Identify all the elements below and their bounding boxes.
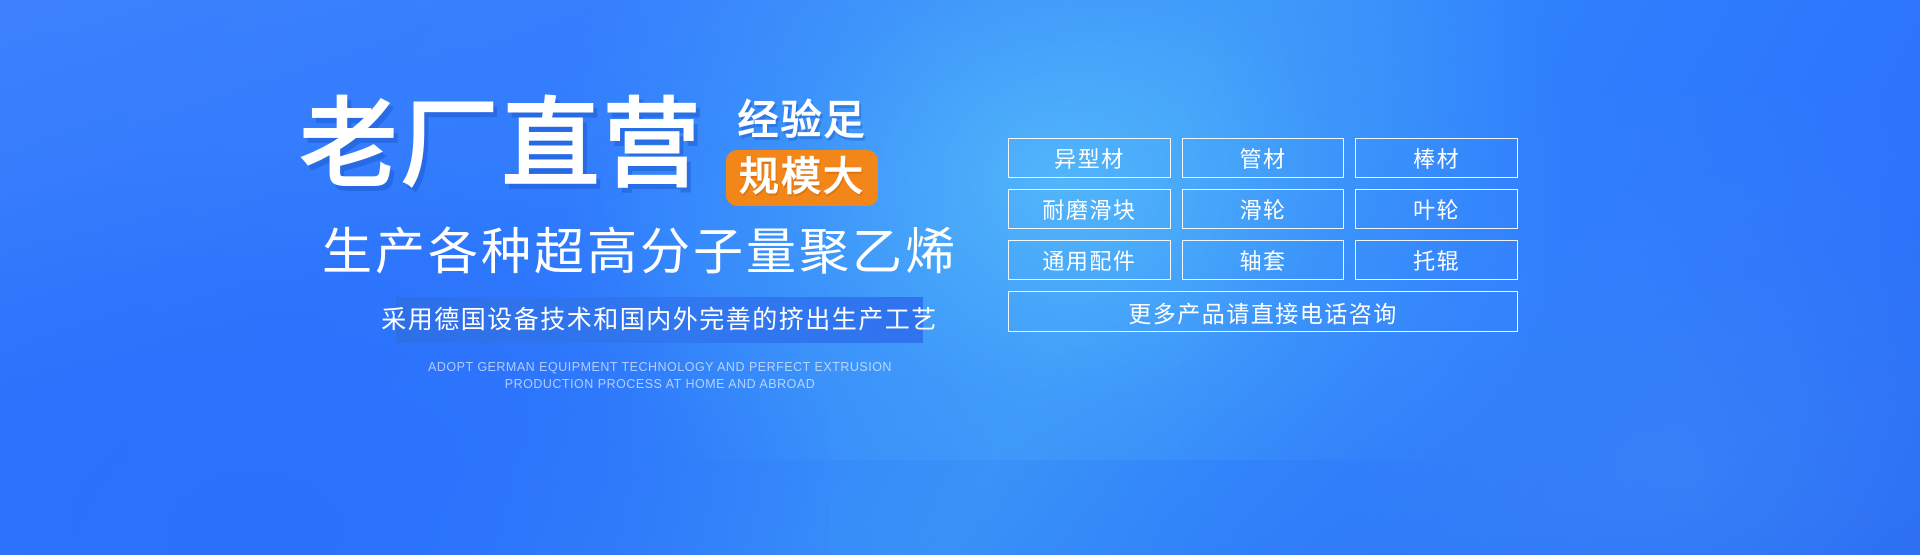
- product-category-panel: 异型材 管材 棒材 耐磨滑块 滑轮 叶轮 通用配件 轴套 托辊 更多产品请直接电…: [1008, 138, 1518, 332]
- subheadline: 生产各种超高分子量聚乙烯: [322, 221, 1000, 283]
- contact-cta-button[interactable]: 更多产品请直接电话咨询: [1008, 291, 1518, 332]
- headline-row: 老厂直营 经验足 规模大: [300, 90, 1000, 205]
- product-row-2: 耐磨滑块 滑轮 叶轮: [1008, 189, 1518, 229]
- promo-banner: 老厂直营 经验足 规模大 生产各种超高分子量聚乙烯 采用德国设备技术和国内外完善…: [0, 0, 1920, 555]
- headline-block: 老厂直营 经验足 规模大 生产各种超高分子量聚乙烯 采用德国设备技术和国内外完善…: [300, 90, 1000, 393]
- headline-main: 老厂直营: [300, 90, 704, 200]
- product-button-yelun[interactable]: 叶轮: [1355, 189, 1518, 229]
- product-button-tuogun[interactable]: 托辊: [1355, 240, 1518, 280]
- product-row-3: 通用配件 轴套 托辊: [1008, 240, 1518, 280]
- product-row-1: 异型材 管材 棒材: [1008, 138, 1518, 178]
- tagline-text: 采用德国设备技术和国内外完善的挤出生产工艺: [381, 305, 938, 335]
- product-button-hualun[interactable]: 滑轮: [1182, 189, 1345, 229]
- english-subtitle-line-1: ADOPT GERMAN EQUIPMENT TECHNOLOGY AND PE…: [340, 359, 980, 376]
- badge-scale: 规模大: [726, 150, 878, 206]
- product-button-guancai[interactable]: 管材: [1182, 138, 1345, 178]
- english-subtitle: ADOPT GERMAN EQUIPMENT TECHNOLOGY AND PE…: [340, 359, 980, 393]
- headline-badge-group: 经验足 规模大: [726, 96, 878, 206]
- badge-experience: 经验足: [726, 96, 878, 144]
- product-button-zhoutao[interactable]: 轴套: [1182, 240, 1345, 280]
- product-button-naimohuakuai[interactable]: 耐磨滑块: [1008, 189, 1171, 229]
- product-button-tongyongpeijian[interactable]: 通用配件: [1008, 240, 1171, 280]
- banner-content: 老厂直营 经验足 规模大 生产各种超高分子量聚乙烯 采用德国设备技术和国内外完善…: [0, 0, 1920, 555]
- product-button-yixingcai[interactable]: 异型材: [1008, 138, 1171, 178]
- product-button-bangcai[interactable]: 棒材: [1355, 138, 1518, 178]
- tagline-band: 采用德国设备技术和国内外完善的挤出生产工艺: [396, 297, 923, 343]
- english-subtitle-line-2: PRODUCTION PROCESS AT HOME AND ABROAD: [340, 376, 980, 393]
